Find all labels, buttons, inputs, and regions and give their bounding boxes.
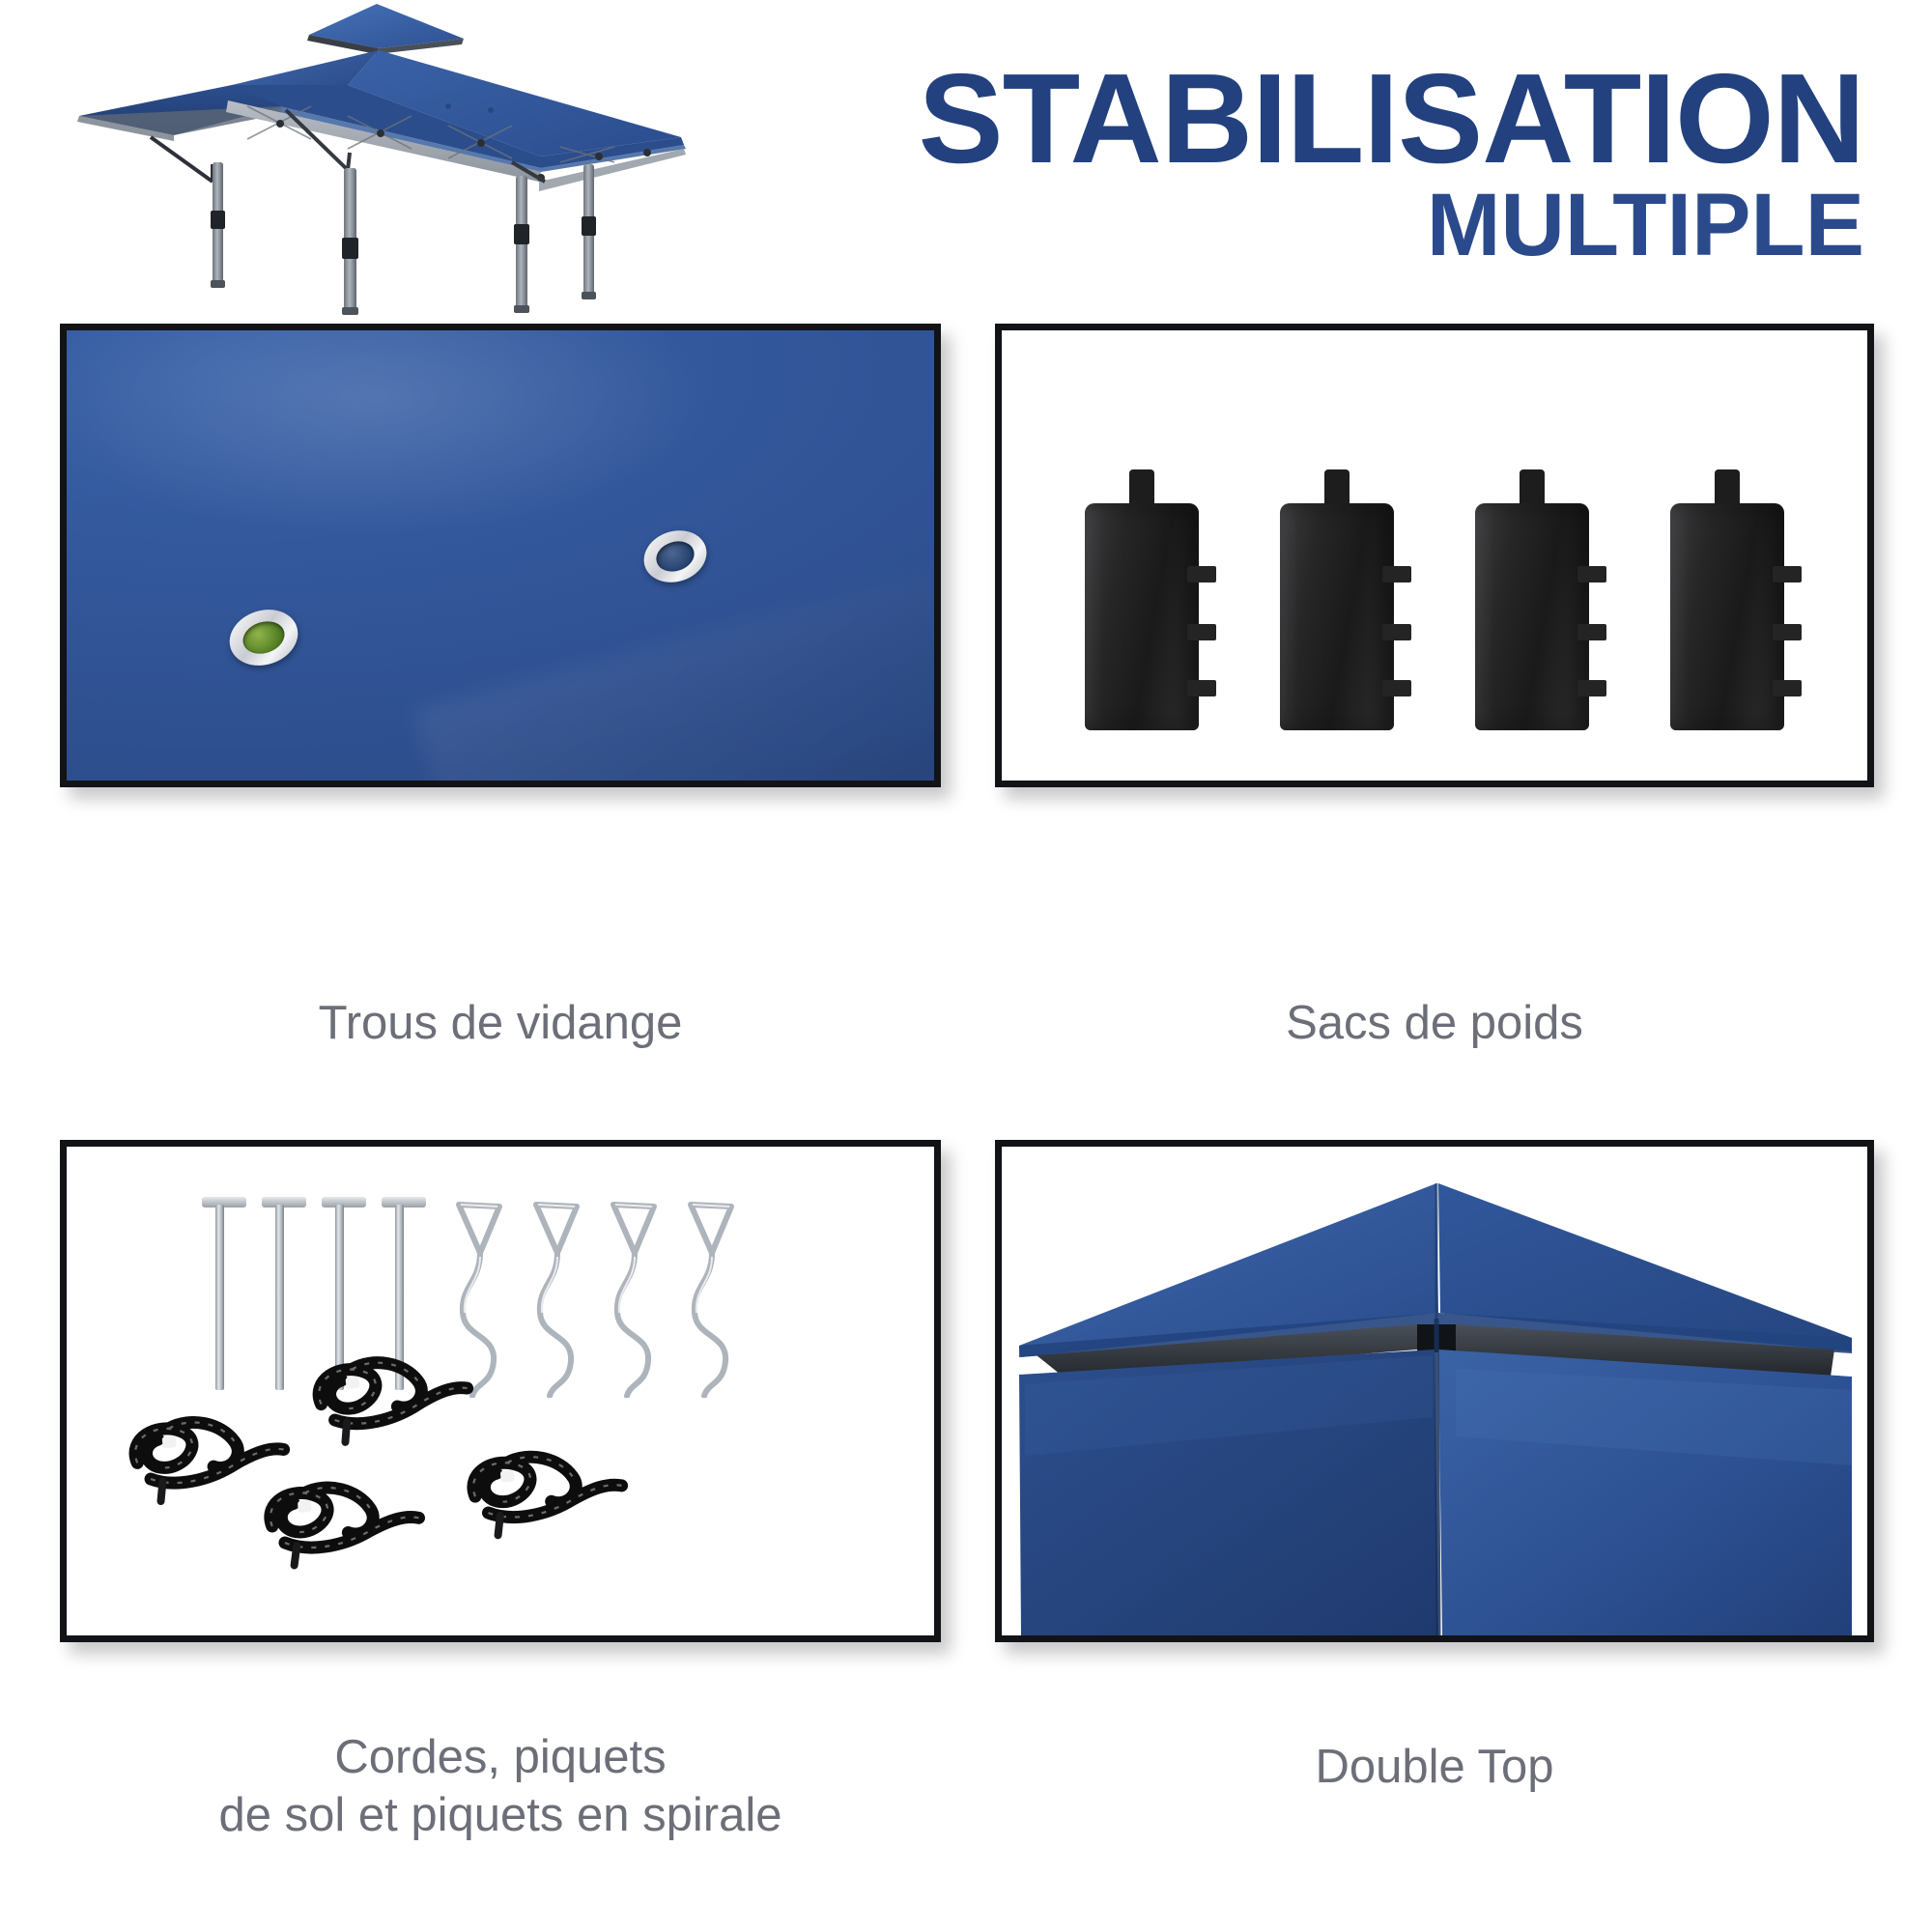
spiral-stake-icon <box>528 1193 588 1398</box>
panel-weight-bags <box>995 324 1874 787</box>
canopy-fabric <box>67 330 934 781</box>
weight-bag-icon <box>1475 469 1589 730</box>
weight-bag-icon <box>1085 469 1199 730</box>
caption-weight-bags: Sacs de poids <box>995 995 1874 1053</box>
caption-ropes-and-stakes: Cordes, piquets de sol et piquets en spi… <box>60 1729 941 1845</box>
double-top-image <box>1002 1147 1867 1635</box>
grommet-icon-upper <box>643 531 707 582</box>
page-title: STABILISATION <box>889 60 1864 177</box>
rope-coil-icon <box>291 1325 486 1451</box>
weight-bags-group <box>1002 330 1867 781</box>
caption-line-2: de sol et piquets en spirale <box>60 1787 941 1845</box>
title-block: STABILISATION MULTIPLE <box>889 60 1864 270</box>
panel-drainage-holes <box>60 324 941 787</box>
grommet-icon-with-grass <box>229 611 298 665</box>
hero-gazebo-image <box>58 0 696 326</box>
caption-line-1: Cordes, piquets <box>60 1729 941 1787</box>
infographic-root: STABILISATION MULTIPLE Trous de vidange <box>0 0 1932 1932</box>
panel-double-top <box>995 1140 1874 1642</box>
stakes-and-ropes-group <box>67 1147 934 1635</box>
weight-bag-icon <box>1670 469 1784 730</box>
caption-drainage-holes: Trous de vidange <box>60 995 941 1053</box>
fabric-fold <box>413 570 941 787</box>
header: STABILISATION MULTIPLE <box>0 0 1932 319</box>
panel-ropes-and-stakes <box>60 1140 941 1642</box>
fabric-sheen <box>60 324 760 555</box>
caption-double-top: Double Top <box>995 1739 1874 1797</box>
rope-coil-icon <box>447 1423 639 1543</box>
weight-bag-icon <box>1280 469 1394 730</box>
spiral-stake-icon <box>683 1193 743 1398</box>
rope-coil-icon <box>244 1456 435 1573</box>
page-subtitle: MULTIPLE <box>889 181 1864 270</box>
spiral-stake-icon <box>606 1193 666 1398</box>
